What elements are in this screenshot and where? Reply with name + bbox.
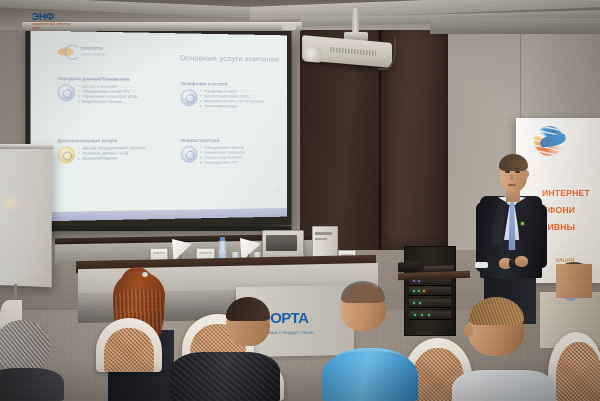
banner-brand-subtitle: национальный оператор связи [32, 23, 76, 30]
slide-block-0-heading: Передача данных/Телематика [58, 76, 138, 82]
audience-white-shirt-ear [464, 324, 473, 337]
ceiling-soffit [430, 18, 600, 34]
slide-block-1-list: Городские номера Бесплатный номер 8-800 … [200, 88, 264, 108]
rack-unit [409, 287, 451, 296]
rack-unit [409, 299, 451, 308]
presenter-ear [524, 170, 529, 178]
slide-page-number: 1 [277, 187, 279, 191]
list-item: Техподдержка 24/7 [200, 160, 244, 165]
conference-presentation-photo: ЭНФОРТА телеком-оператор Основные услуги… [0, 0, 600, 401]
presenter-lapel-pin [521, 222, 524, 225]
slide-block-1-heading: Телефония и услуги [181, 81, 264, 87]
rack-led-purple [413, 280, 415, 282]
rings-icon [181, 146, 198, 163]
name-card-text: ЭНФОРТА [151, 249, 167, 255]
slide-logo: ЭНФОРТА телеком-оператор [58, 43, 117, 60]
screen-roller-cap [282, 24, 296, 30]
slide-block-3: Инфраструктура Объединение офисов Управл… [181, 138, 245, 165]
slide-block-0: Передача данных/Телематика Доступ в Инте… [58, 76, 138, 104]
audience-beige-shirt-head [556, 264, 592, 298]
projector-lens [303, 46, 321, 63]
equipment-tower-slot [315, 232, 332, 235]
slide-title: Основные услуги компании [153, 53, 279, 64]
desk-clutter [424, 265, 454, 271]
projected-slide: ЭНФОРТА телеком-оператор Основные услуги… [31, 30, 287, 221]
slide-block-3-list: Объединение офисов Управление трафиком С… [200, 145, 244, 165]
rack-led-green [419, 302, 421, 304]
equipment-tower-slot [315, 238, 327, 240]
presenter-nose [510, 174, 513, 180]
slide-logo-subtitle: телеком-оператор [80, 53, 119, 57]
presenter-mouth [508, 184, 516, 186]
slide-block-0-list: Доступ в Интернет Объединение сетей/VPN … [78, 83, 138, 104]
flipchart-glare [0, 195, 20, 211]
bottle-cap [220, 237, 225, 241]
rack-unit [409, 311, 451, 320]
table-banner-tagline: ваш стандарт связи [268, 330, 342, 335]
foreground-shading [0, 360, 600, 401]
snowflake-icon [181, 89, 198, 106]
rack-led-green [413, 302, 415, 304]
rack-led-green [418, 290, 420, 292]
globe-network-icon [58, 84, 76, 101]
rack-led-purple [418, 280, 420, 282]
slide-block-3-heading: Инфраструктура [181, 138, 245, 143]
desk-phone [398, 262, 420, 273]
rack-led-green [421, 314, 423, 316]
rack-led-green [414, 314, 416, 316]
rack-led-amber [423, 290, 425, 292]
audience-woman-hair-clip [142, 272, 148, 277]
rack-led-green [428, 314, 430, 316]
slide-block-2-heading: Дополнительные услуги [58, 138, 146, 143]
flipchart-whiteboard [0, 145, 52, 287]
name-card-text: ЭНФОРТА [197, 249, 214, 255]
table-banner-brand: ФОРТА [258, 310, 338, 327]
table-banner-logo: ФОРТА [258, 310, 338, 328]
projector-mount-pole [352, 8, 359, 34]
slide-block-2: Дополнительные услуги Аренда оборудовани… [58, 138, 146, 164]
list-item: Видеонаблюдение [78, 155, 145, 161]
screen-bottom-weight-bar [28, 226, 291, 231]
presenter-shirt-cuff [475, 262, 488, 268]
slide-block-1: Телефония и услуги Городские номера Бесп… [181, 81, 264, 109]
slide-block-2-list: Аренда оборудования/IT-проекты Хранение … [78, 145, 145, 161]
slide-logo-brand: ЭНФОРТА [80, 46, 119, 52]
list-item: Телеконференции [200, 103, 264, 108]
flipchart-top-rail [0, 144, 54, 149]
logo-blue-arc-icon [65, 44, 80, 60]
rack-led-green [413, 290, 415, 292]
monitor-screen [266, 235, 297, 251]
presenter-hand-right [515, 256, 528, 267]
list-item: Выделенные каналы [78, 99, 138, 104]
shield-gold-icon [58, 146, 76, 163]
equipment-rack [404, 246, 456, 336]
